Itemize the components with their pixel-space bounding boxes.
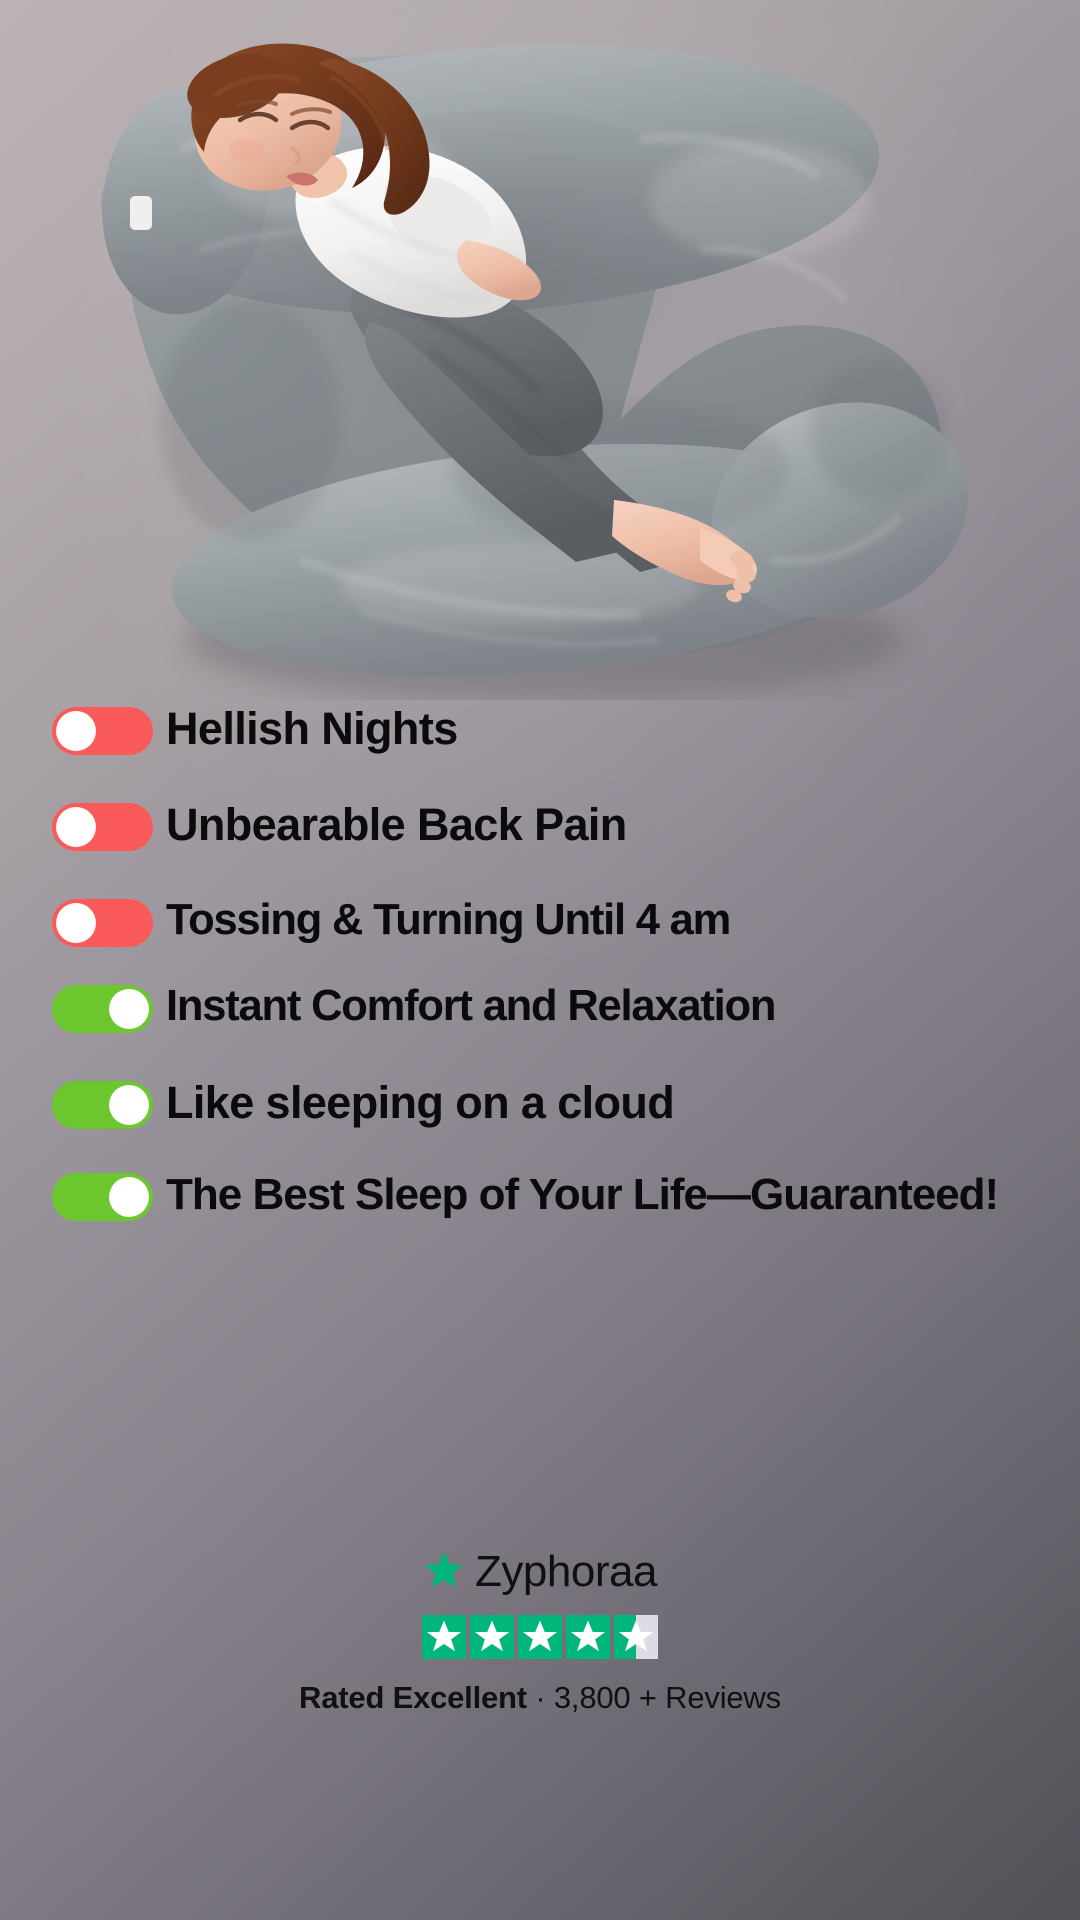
feature-list: Hellish Nights Unbearable Back Pain Toss… <box>0 700 1080 1240</box>
rating-caption: Rated Excellent · 3,800 + Reviews <box>0 1680 1080 1716</box>
toggle-wrapper <box>52 978 166 1040</box>
feature-label: Instant Comfort and Relaxation <box>166 978 775 1033</box>
rating-separator: · <box>527 1680 554 1715</box>
toggle-best-sleep-guaranteed[interactable] <box>52 1173 153 1221</box>
hero-product-image <box>0 0 1080 700</box>
feature-row: The Best Sleep of Your Life—Guaranteed! <box>166 1166 1052 1240</box>
toggle-knob <box>56 711 96 751</box>
review-count: 3,800 + Reviews <box>554 1680 781 1715</box>
feature-row: Like sleeping on a cloud <box>166 1074 1052 1148</box>
toggle-like-sleeping-on-a-cloud[interactable] <box>52 1081 153 1129</box>
star-box-5-half <box>614 1615 658 1664</box>
feature-label: Hellish Nights <box>166 700 458 757</box>
toggle-instant-comfort[interactable] <box>52 985 153 1033</box>
trust-rating-block: Zyphoraa <box>0 1545 1080 1716</box>
toggle-hellish-nights[interactable] <box>52 707 153 755</box>
feature-label: The Best Sleep of Your Life—Guaranteed! <box>166 1166 998 1222</box>
feature-label: Unbearable Back Pain <box>166 796 627 853</box>
toggle-knob <box>109 1085 149 1125</box>
brand-lockup: Zyphoraa <box>0 1545 1080 1599</box>
feature-label: Like sleeping on a cloud <box>166 1074 674 1131</box>
star-box-2 <box>470 1615 514 1664</box>
toggle-knob <box>56 903 96 943</box>
toggle-knob <box>56 807 96 847</box>
toggle-wrapper <box>52 892 166 954</box>
star-box-3 <box>518 1615 562 1664</box>
star-rating <box>0 1615 1080 1664</box>
toggle-wrapper <box>52 1074 166 1136</box>
pillow-tag <box>130 196 152 230</box>
toggle-wrapper <box>52 796 166 858</box>
feature-label: Tossing & Turning Until 4 am <box>166 892 730 947</box>
toggle-unbearable-back-pain[interactable] <box>52 803 153 851</box>
toggle-knob <box>109 1177 149 1217</box>
star-box-4 <box>566 1615 610 1664</box>
toggle-wrapper <box>52 1166 166 1228</box>
feature-row: Tossing & Turning Until 4 am <box>166 892 1052 966</box>
feature-row: Hellish Nights <box>166 700 1052 774</box>
toggle-knob <box>109 989 149 1029</box>
star-icon <box>423 1549 465 1596</box>
feature-row: Unbearable Back Pain <box>166 796 1052 870</box>
toggle-tossing-and-turning[interactable] <box>52 899 153 947</box>
rated-excellent-label: Rated Excellent <box>299 1680 527 1715</box>
toggle-wrapper <box>52 700 166 762</box>
brand-name: Zyphoraa <box>475 1550 657 1594</box>
feature-row: Instant Comfort and Relaxation <box>166 978 1052 1052</box>
star-box-1 <box>422 1615 466 1664</box>
